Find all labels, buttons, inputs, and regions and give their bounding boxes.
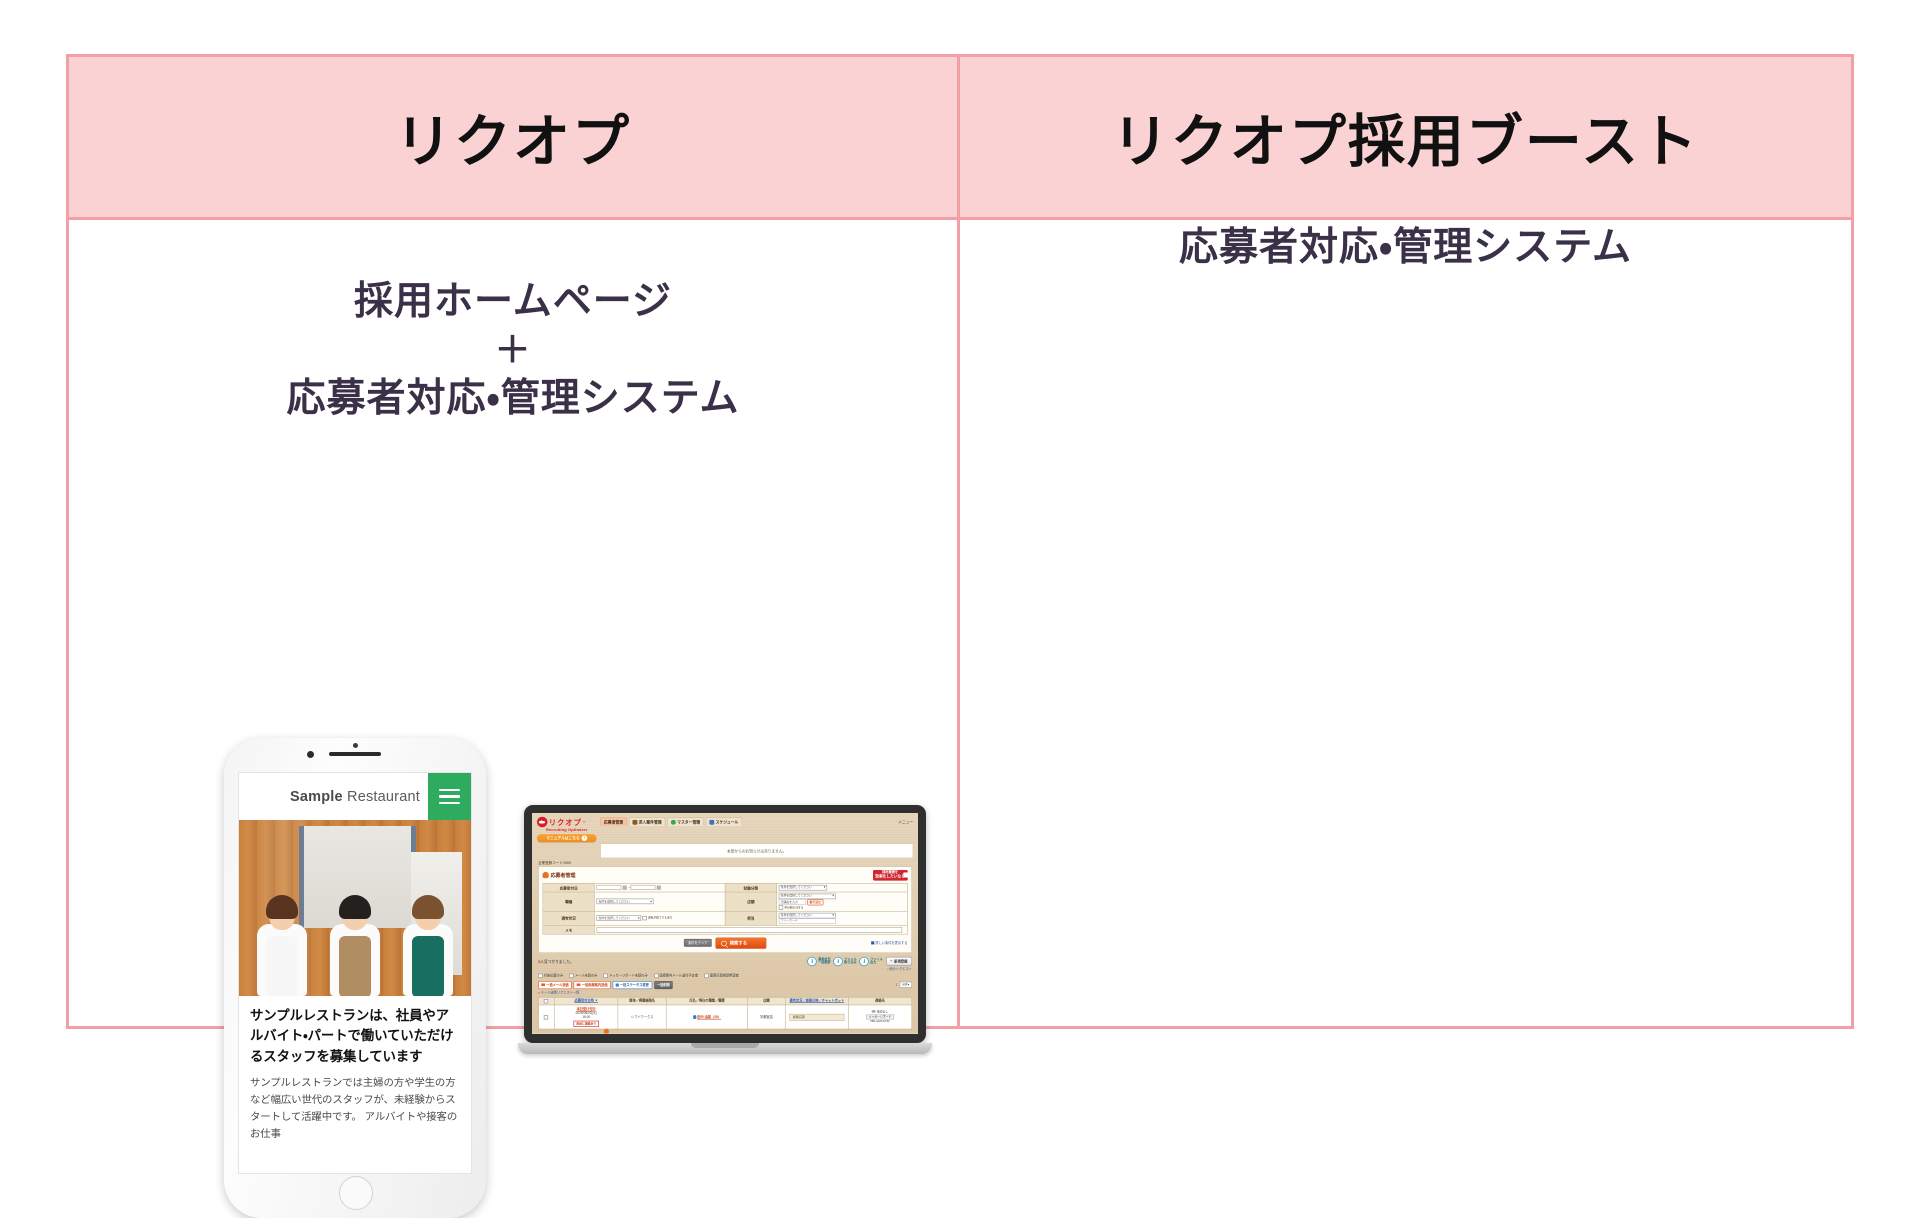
- phone-camera-icon: [307, 751, 314, 758]
- panel-title-left: 応募者管理: [543, 872, 576, 879]
- menu-link[interactable]: メニュー: [898, 817, 913, 825]
- checkbox[interactable]: [544, 999, 548, 1003]
- checkbox[interactable]: [569, 974, 573, 978]
- cell-store: 宇都宮店: [748, 1005, 786, 1029]
- hero-staff-person: [328, 900, 382, 996]
- staff-body: [257, 924, 307, 996]
- select-value: 条件を選択してください: [599, 900, 630, 904]
- promo-badge-line2: 効率化したいなら: [875, 875, 905, 879]
- page-number: 1: [896, 983, 898, 987]
- staff-hair: [339, 895, 371, 919]
- column-header-rikuop: リクオプ: [69, 57, 960, 217]
- cell-media: シフトワークス: [618, 1005, 667, 1029]
- filter-label: 対象応募のみ: [544, 974, 563, 978]
- form-row: 職種 条件を選択してください▾ 店舗 条件を選択してください▾ 店舗名を入: [543, 892, 907, 911]
- expand-icon: [871, 942, 874, 945]
- calendar-icon: [709, 820, 714, 825]
- app-logo-name: リクオプ: [549, 818, 582, 825]
- filter-label: メール未読のみ: [575, 974, 598, 978]
- new-registration-button[interactable]: ✛新規登録: [886, 957, 912, 966]
- laptop-base: [518, 1043, 932, 1054]
- laptop-lid: リクオプ ® Recruiting Optimizer マニュアルはこちら ?: [524, 805, 926, 1043]
- question-person-icon: ?: [582, 835, 588, 841]
- magnifier-icon: [721, 941, 727, 947]
- filter-option[interactable]: 面接日程相談希望者: [704, 974, 739, 978]
- laptop-mockup-small: リクオプ ® Recruiting Optimizer マニュアルはこちら ?: [524, 805, 926, 1054]
- date-to-input[interactable]: [630, 885, 655, 890]
- phone-mockup: Sample Restaurant: [224, 738, 486, 1218]
- tab-applicant-management[interactable]: 応募者管理: [600, 817, 627, 826]
- date-time: 18:00: [556, 1016, 616, 1020]
- staff-hair: [412, 895, 444, 919]
- tab-label: マスター管理: [677, 819, 700, 825]
- tab-schedule[interactable]: スケジュール: [706, 817, 742, 826]
- envelope-icon: [577, 984, 581, 986]
- envelope-icon: [872, 1010, 876, 1012]
- cell-name: 田中 由美（20）: [666, 1005, 747, 1029]
- form-field-date-range: ~: [595, 883, 725, 892]
- form-label-application-date: 応募受付日: [543, 883, 595, 892]
- rikuop-device-stage: Sample Restaurant: [69, 690, 957, 1026]
- staff-body: [330, 924, 380, 996]
- store-filter-button[interactable]: 絞り込む: [807, 899, 823, 905]
- bulk-actions: 一括メール送信 一括面接案内送信 一括ステータス変更 一括削除 1 30件▾: [538, 981, 912, 989]
- header-name: 氏名／現在の職業／職歴: [666, 997, 747, 1005]
- notice-banner: 本部からのお知らせはありません。: [600, 843, 913, 858]
- staff-apron: [266, 936, 298, 996]
- select-value: 条件を選択してください: [781, 886, 812, 890]
- results-bar: 5人見つかりました。 ⭳ 選考状況一括更新 ⭳ ファイル取り: [538, 957, 912, 966]
- form-label-selection-status: 選考状況: [543, 911, 595, 925]
- download-icon: ⭳: [860, 957, 869, 966]
- form-label-owner: 担当: [725, 911, 777, 925]
- calendar-icon[interactable]: [623, 885, 627, 889]
- column-body-rikuop-boost: 応募者対応・管理システム リクオプ ®: [960, 220, 1851, 1026]
- search-button-label: 検索する: [730, 941, 747, 945]
- checkbox[interactable]: [604, 974, 608, 978]
- promo-badge[interactable]: 採用業務を 効率化したいなら: [873, 870, 908, 880]
- column-body-rikuop: 採用ホームページ ＋ 応募者対応・管理システム Sample Restauran…: [69, 220, 960, 1026]
- bulk-button-label: 一括削除: [657, 983, 670, 987]
- bulk-status-update-action[interactable]: ⭳ 選考状況一括更新: [808, 957, 831, 966]
- table-header-row: 応募受付日時 ▼ 媒体／掲載経路名 氏名／現在の職業／職歴 店舗 選考状況／面接…: [539, 997, 912, 1005]
- app-logo-row: リクオプ ®: [537, 817, 597, 828]
- hero-staff-person: [401, 900, 455, 996]
- file-export-action[interactable]: ⭳ ファイル出力: [860, 957, 883, 966]
- select-value: 条件を選択してください: [781, 894, 812, 898]
- manual-button[interactable]: マニュアルはこちら ?: [537, 834, 597, 842]
- cell-stage: 新着応募: [785, 1005, 848, 1029]
- hamburger-bar: [439, 802, 460, 805]
- column-header-rikuop-boost: リクオプ採用ブースト: [960, 57, 1851, 217]
- filter-option[interactable]: メール未読のみ: [569, 974, 597, 978]
- recruit-site-body-text: サンプルレストランでは主婦の方や学生の方など幅広い世代のスタッフが、未経験からス…: [250, 1076, 460, 1143]
- recruit-site-copy: サンプルレストランは、社員やアルバイト・パートで働いていただけるスタッフを募集し…: [239, 996, 471, 1144]
- laptop-screen: リクオプ ® Recruiting Optimizer マニュアルはこちら ?: [532, 813, 918, 1034]
- chevron-down-icon: ▾: [832, 914, 834, 918]
- applicant-list-table: 応募受付日時 ▼ 媒体／掲載経路名 氏名／現在の職業／職歴 店舗 選考状況／面接…: [538, 997, 912, 1029]
- phone-home-button[interactable]: [339, 1176, 373, 1210]
- action-label: ファイル出力: [870, 958, 882, 965]
- selection-finished-label: 選考が終了でもあり: [648, 916, 673, 919]
- form-field-exam-category: 条件を選択してください▾: [777, 883, 907, 892]
- contact-phone-row: 080-4120-0732: [850, 1020, 910, 1024]
- pagination: 1 30件▾: [896, 982, 912, 988]
- search-actions: 条件をクリア 検索する 詳しい条件を表示する: [543, 938, 908, 949]
- memo-input[interactable]: [597, 927, 902, 933]
- filter-label: 面接日程相談希望者: [710, 974, 739, 978]
- form-row: 選考状況 条件を選択してください▾ 選考が終了でもあり 担当 条件を選択し: [543, 911, 907, 925]
- flag-icon: [616, 983, 619, 986]
- boost-caption-line1: 応募者対応・管理システム: [960, 220, 1851, 275]
- mail-request-list-link[interactable]: メール送信リクエスト一覧: [538, 990, 912, 994]
- form-row: メモ: [543, 925, 907, 934]
- bulk-delete-button[interactable]: 一括削除: [654, 981, 673, 989]
- staff-hair: [266, 895, 298, 919]
- form-field-owner: 条件を選択してください▾ フリーワード: [777, 911, 907, 925]
- form-label-store: 店舗: [725, 892, 777, 911]
- checkbox[interactable]: [704, 974, 708, 978]
- select-all-checkbox-header[interactable]: [539, 997, 555, 1005]
- comparison-body-row: 採用ホームページ ＋ 応募者対応・管理システム Sample Restauran…: [69, 220, 1851, 1026]
- corporate-code: 企業登録コード:0000: [532, 858, 918, 866]
- select-value: 条件を選択してください: [599, 916, 630, 920]
- comparison-header-row: リクオプ リクオプ採用ブースト: [69, 57, 1851, 220]
- page-size-select[interactable]: 30件▾: [899, 982, 911, 988]
- date-from-input[interactable]: [597, 885, 622, 890]
- chevron-down-icon: ▾: [908, 983, 909, 987]
- chevron-down-icon: ▾: [824, 886, 826, 890]
- new-button-label: 新規登録: [894, 959, 907, 964]
- arrow-circle-icon: [537, 817, 548, 828]
- applicant-panel: 応募者管理 採用業務を 効率化したいなら: [538, 866, 912, 953]
- tab-label: スケジュール: [716, 819, 739, 825]
- rikuop-caption-plus: ＋: [69, 329, 957, 370]
- table-row: 本日受け付け 2025/06/03(火) 18:00 直前に連絡あり シフトワー…: [539, 1005, 912, 1029]
- header-media: 媒体／掲載経路名: [618, 997, 667, 1005]
- filter-label: 面接案内メール送付予定者: [659, 974, 698, 978]
- hamburger-bar: [439, 789, 460, 792]
- filter-option[interactable]: 対象応募のみ: [538, 974, 563, 978]
- action-label: ファイル取り込み: [844, 958, 856, 965]
- header-contact: 連絡先: [848, 997, 911, 1005]
- hamburger-bar: [439, 795, 460, 798]
- select-value: 条件を選択してください: [781, 914, 812, 918]
- rikuop-caption-line2: 応募者対応・管理システム: [69, 371, 957, 426]
- recruit-site-headline: サンプルレストランは、社員やアルバイト・パートで働いていただけるスタッフを募集し…: [250, 1006, 460, 1067]
- filter-option[interactable]: メッセージボード未読のみ: [604, 974, 648, 978]
- bulk-status-change-button[interactable]: 一括ステータス変更: [613, 981, 652, 989]
- owner-freeword-input[interactable]: フリーワード: [779, 918, 836, 924]
- recruit-site-hero-photo: [239, 820, 471, 996]
- form-field-memo: [595, 925, 908, 934]
- tab-job-management[interactable]: 求人案件管理: [629, 817, 666, 826]
- checkbox[interactable]: [654, 974, 658, 978]
- checkbox[interactable]: [544, 1015, 548, 1019]
- results-icon-actions: ⭳ 選考状況一括更新 ⭳ ファイル取り込み ⭳: [808, 957, 912, 966]
- brand-bold: Sample: [290, 789, 343, 805]
- filter-option[interactable]: 面接案内メール送付予定者: [654, 974, 698, 978]
- download-icon: ⭳: [808, 957, 817, 966]
- applicant-name-link[interactable]: 田中 由美（20）: [697, 1015, 721, 1019]
- form-label-memo: メモ: [543, 925, 595, 934]
- selection-status-select[interactable]: 条件を選択してください▾: [597, 916, 642, 922]
- app-nav-tabs: 応募者管理 求人案件管理 マスター管理: [600, 817, 894, 826]
- input-placeholder: 店舗名を入力: [781, 900, 798, 904]
- phone-sensor-icon: [353, 743, 358, 748]
- selection-finished-checkbox[interactable]: [642, 916, 646, 920]
- store-subcategory-label: 中分類も行する: [784, 906, 803, 909]
- filter-label: メッセージボード未読のみ: [609, 974, 648, 978]
- chevron-down-icon: ▾: [638, 916, 640, 920]
- form-field-store: 条件を選択してください▾ 店舗名を入力 絞り込む 中分類も行する: [777, 892, 907, 911]
- video-icon: [903, 873, 908, 878]
- book-icon: [632, 820, 637, 825]
- action-label: 選考状況一括更新: [818, 958, 830, 965]
- staff-apron: [412, 936, 444, 996]
- recruit-site-navbar: Sample Restaurant: [239, 773, 471, 820]
- bulk-button-label: 一括面接案内送信: [582, 983, 608, 987]
- tab-label: 応募者管理: [604, 819, 623, 825]
- file-import-action[interactable]: ⭳ ファイル取り込み: [834, 957, 857, 966]
- brand-light: Restaurant: [343, 789, 420, 805]
- results-count-text: 人見つかりました。: [540, 960, 573, 964]
- chevron-down-icon: ▾: [832, 894, 834, 898]
- bulk-button-label: 一括ステータス変更: [620, 983, 649, 987]
- staff-body: [403, 924, 453, 996]
- tab-master-management[interactable]: マスター管理: [667, 817, 704, 826]
- recruit-site-brand: Sample Restaurant: [290, 789, 420, 805]
- app-logo-tagline: Recruiting Optimizer: [537, 828, 597, 832]
- tab-label: 求人案件管理: [639, 819, 662, 825]
- registered-icon: ®: [583, 820, 585, 824]
- contact-mail-status: 未読なし: [877, 1010, 888, 1013]
- detail-conditions-link[interactable]: 詳しい条件を表示する: [871, 941, 908, 945]
- cell-application-date: 本日受け付け 2025/06/03(火) 18:00 直前に連絡あり: [555, 1005, 618, 1029]
- other-request-link[interactable]: 他のリクエスト: [538, 967, 912, 971]
- staff-head: [269, 900, 295, 930]
- calendar-icon[interactable]: [656, 885, 660, 889]
- form-label-job-type: 職種: [543, 892, 595, 911]
- form-field-selection-status: 条件を選択してください▾ 選考が終了でもあり: [595, 911, 725, 925]
- bulk-mail-button[interactable]: 一括メール送信: [538, 981, 572, 989]
- row-select-checkbox[interactable]: [539, 1005, 555, 1029]
- header-application-date[interactable]: 応募受付日時 ▼: [555, 997, 618, 1005]
- comparison-table: リクオプ リクオプ採用ブースト 採用ホームページ ＋ 応募者対応・管理システム: [66, 54, 1854, 1029]
- staff-head: [342, 900, 368, 930]
- store-name-input[interactable]: 店舗名を入力: [779, 899, 806, 905]
- chevron-down-icon: ▾: [650, 900, 652, 904]
- form-row: 応募受付日 ~ 試験分類 条件を選択してください▾: [543, 883, 907, 892]
- clear-conditions-button[interactable]: 条件をクリア: [684, 939, 712, 947]
- stage-chip: 新着応募: [789, 1014, 844, 1021]
- app-logo[interactable]: リクオプ ® Recruiting Optimizer マニュアルはこちら ?: [537, 817, 597, 842]
- exam-category-select[interactable]: 条件を選択してください▾: [779, 885, 827, 891]
- phone-screen: Sample Restaurant: [238, 772, 472, 1174]
- download-icon: ⭳: [834, 957, 843, 966]
- person-icon: [543, 872, 549, 878]
- result-filters: 対象応募のみ メール未読のみ メッセージボード未読のみ 面接案内メール送付予定者…: [538, 974, 912, 978]
- hamburger-icon[interactable]: [428, 773, 471, 820]
- form-field-job-type: 条件を選択してください▾: [595, 892, 725, 911]
- detail-link-label: 詳しい条件を表示する: [875, 941, 907, 945]
- plus-icon: ✛: [890, 960, 893, 964]
- bulk-button-label: 一括メール送信: [546, 983, 569, 987]
- person-icon: [693, 1015, 696, 1019]
- rikuop-caption-line1: 採用ホームページ: [69, 274, 957, 329]
- results-count: 5人見つかりました。: [538, 959, 574, 965]
- checkbox[interactable]: [538, 974, 542, 978]
- panel-title-row: 応募者管理 採用業務を 効率化したいなら: [543, 870, 908, 880]
- rikuop-caption: 採用ホームページ ＋ 応募者対応・管理システム: [69, 220, 957, 426]
- panel-title: 応募者管理: [551, 872, 576, 879]
- bulk-interview-mail-button[interactable]: 一括面接案内送信: [574, 981, 611, 989]
- person-icon: [604, 1029, 609, 1034]
- store-subcategory-checkbox[interactable]: [779, 905, 783, 909]
- app-screen-small: リクオプ ® Recruiting Optimizer マニュアルはこちら ?: [532, 813, 918, 1034]
- app-header: リクオプ ® Recruiting Optimizer マニュアルはこちら ?: [532, 813, 918, 842]
- cell-contact: 未読なし メッセージボード 080-4120-0732: [848, 1005, 911, 1029]
- staff-head: [415, 900, 441, 930]
- hero-staff-person: [255, 900, 309, 996]
- search-form-table: 応募受付日 ~ 試験分類 条件を選択してください▾: [543, 883, 908, 934]
- boost-caption: 応募者対応・管理システム: [960, 220, 1851, 275]
- header-status[interactable]: 選考状況／面接日時／チャットボット: [785, 997, 848, 1005]
- staff-apron: [339, 936, 371, 996]
- header-store: 店舗: [748, 997, 786, 1005]
- envelope-icon: [541, 984, 545, 986]
- contact-status-tag: 直前に連絡あり: [574, 1021, 599, 1027]
- form-label-exam-category: 試験分類: [725, 883, 777, 892]
- input-placeholder: フリーワード: [781, 919, 798, 923]
- job-type-select[interactable]: 条件を選択してください▾: [597, 899, 654, 905]
- gear-icon: [671, 820, 676, 825]
- search-button[interactable]: 検索する: [715, 938, 766, 949]
- manual-button-label: マニュアルはこちら: [546, 835, 579, 841]
